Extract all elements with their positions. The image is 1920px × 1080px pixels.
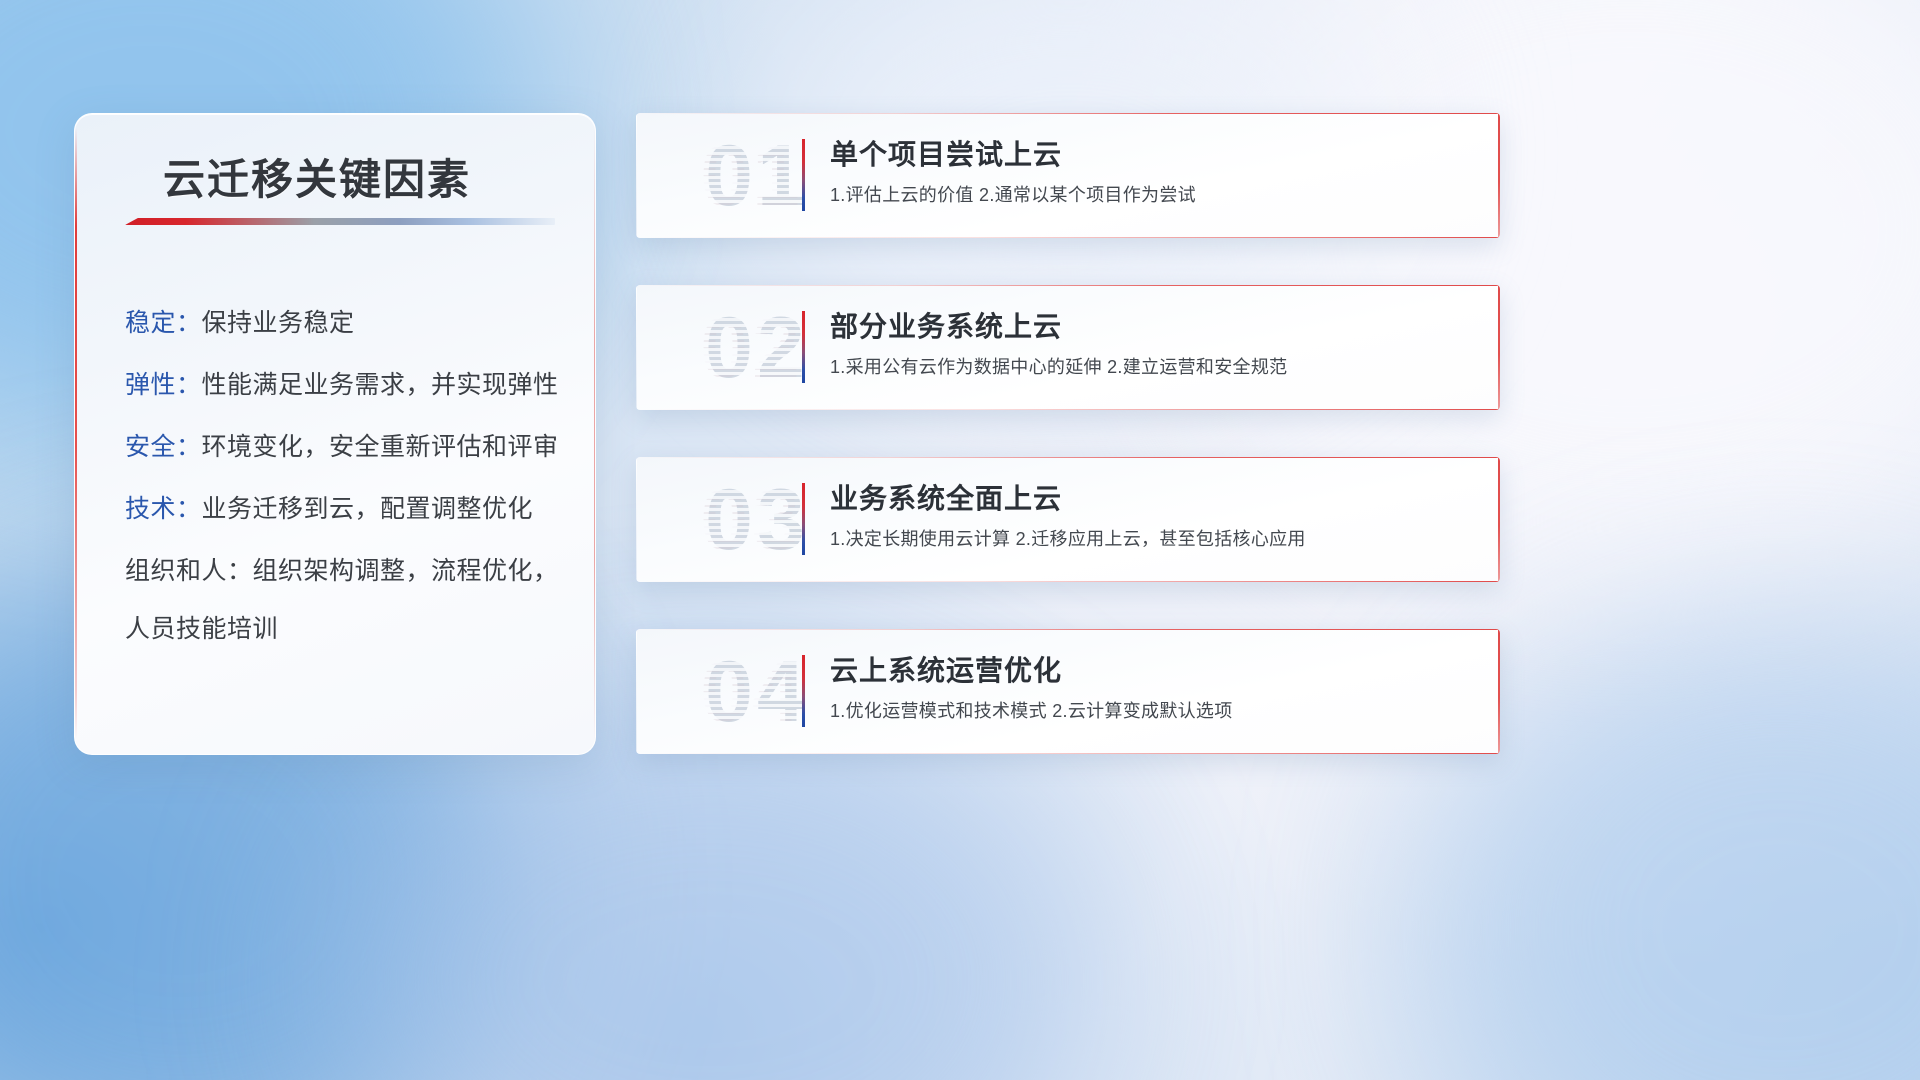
stage-card-02[interactable]: 02 02 部分业务系统上云 1.采用公有云作为数据中心的延伸 2.建立运营和安… (636, 285, 1500, 410)
card-edge-right (1498, 113, 1500, 238)
slide-canvas: 云迁移关键因素 稳定：保持业务稳定 弹性：性能满足业务需求，并实现弹性 安全：环… (0, 0, 1920, 1080)
list-item-label: 稳定： (125, 309, 202, 337)
card-number-ghost: 02 (657, 291, 847, 406)
card-title: 单个项目尝试上云 (830, 133, 1062, 173)
stage-card-01[interactable]: 01 01 单个项目尝试上云 1.评估上云的价值 2.通常以某个项目作为尝试 (636, 113, 1500, 238)
list-item-text: 组织架构调整，流程优化， (253, 557, 559, 585)
list-item-continuation: 人员技能培训 (125, 598, 561, 660)
title-underline-gradient (125, 218, 555, 225)
card-edge-right (1498, 629, 1500, 754)
card-number-01: 01 01 (662, 119, 852, 234)
list-item: 稳定：保持业务稳定 (125, 292, 561, 354)
card-subtitle: 1.决定长期使用云计算 2.迁移应用上云，甚至包括核心应用 (830, 525, 1306, 551)
card-number-04: 04 04 (662, 635, 852, 750)
card-title: 部分业务系统上云 (830, 305, 1062, 345)
card-subtitle: 1.优化运营模式和技术模式 2.云计算变成默认选项 (830, 697, 1233, 723)
card-edge-left (636, 457, 637, 582)
card-divider-bar (802, 655, 805, 727)
card-title: 业务系统全面上云 (830, 477, 1062, 517)
card-number-ghost: 01 (657, 119, 847, 234)
card-divider-bar (802, 311, 805, 383)
card-number-ghost: 04 (657, 635, 847, 750)
card-subtitle: 1.评估上云的价值 2.通常以某个项目作为尝试 (830, 181, 1196, 207)
list-item-text: 性能满足业务需求，并实现弹性 (202, 371, 559, 399)
card-number-02: 02 02 (662, 291, 852, 406)
list-item-label: 弹性： (125, 371, 202, 399)
card-edge-top (636, 285, 1500, 286)
list-item: 安全：环境变化，安全重新评估和评审 (125, 416, 561, 478)
list-item-text: 保持业务稳定 (202, 309, 355, 337)
card-edge-right (1498, 285, 1500, 410)
panel-title: 云迁移关键因素 (163, 146, 471, 207)
card-divider-bar (802, 139, 805, 211)
key-factors-list: 稳定：保持业务稳定 弹性：性能满足业务需求，并实现弹性 安全：环境变化，安全重新… (125, 292, 561, 660)
list-item-label: 组织和人： (125, 557, 253, 585)
card-edge-right (1498, 457, 1500, 582)
card-divider-bar (802, 483, 805, 555)
card-edge-bottom (636, 753, 1500, 754)
stage-card-03[interactable]: 03 03 业务系统全面上云 1.决定长期使用云计算 2.迁移应用上云，甚至包括… (636, 457, 1500, 582)
card-subtitle: 1.采用公有云作为数据中心的延伸 2.建立运营和安全规范 (830, 353, 1287, 379)
background-blob (330, 700, 1090, 1080)
card-edge-top (636, 629, 1500, 630)
card-number-ghost: 03 (657, 463, 847, 578)
card-title: 云上系统运营优化 (830, 649, 1062, 689)
list-item-text: 人员技能培训 (125, 615, 278, 643)
card-edge-top (636, 113, 1500, 114)
list-item-label: 安全： (125, 433, 202, 461)
card-edge-top (636, 457, 1500, 458)
list-item-text: 环境变化，安全重新评估和评审 (202, 433, 559, 461)
card-edge-bottom (636, 409, 1500, 410)
card-edge-left (636, 285, 637, 410)
list-item: 组织和人：组织架构调整，流程优化， (125, 540, 561, 602)
card-edge-left (636, 629, 637, 754)
card-edge-bottom (636, 237, 1500, 238)
list-item-text: 业务迁移到云，配置调整优化 (202, 495, 534, 523)
stage-card-04[interactable]: 04 04 云上系统运营优化 1.优化运营模式和技术模式 2.云计算变成默认选项 (636, 629, 1500, 754)
background-blob (1430, 620, 1920, 1080)
card-edge-left (636, 113, 637, 238)
card-edge-bottom (636, 581, 1500, 582)
list-item: 技术：业务迁移到云，配置调整优化 (125, 478, 561, 540)
list-item-label: 技术： (125, 495, 202, 523)
key-factors-panel: 云迁移关键因素 稳定：保持业务稳定 弹性：性能满足业务需求，并实现弹性 安全：环… (74, 113, 596, 755)
card-number-03: 03 03 (662, 463, 852, 578)
list-item: 弹性：性能满足业务需求，并实现弹性 (125, 354, 561, 416)
